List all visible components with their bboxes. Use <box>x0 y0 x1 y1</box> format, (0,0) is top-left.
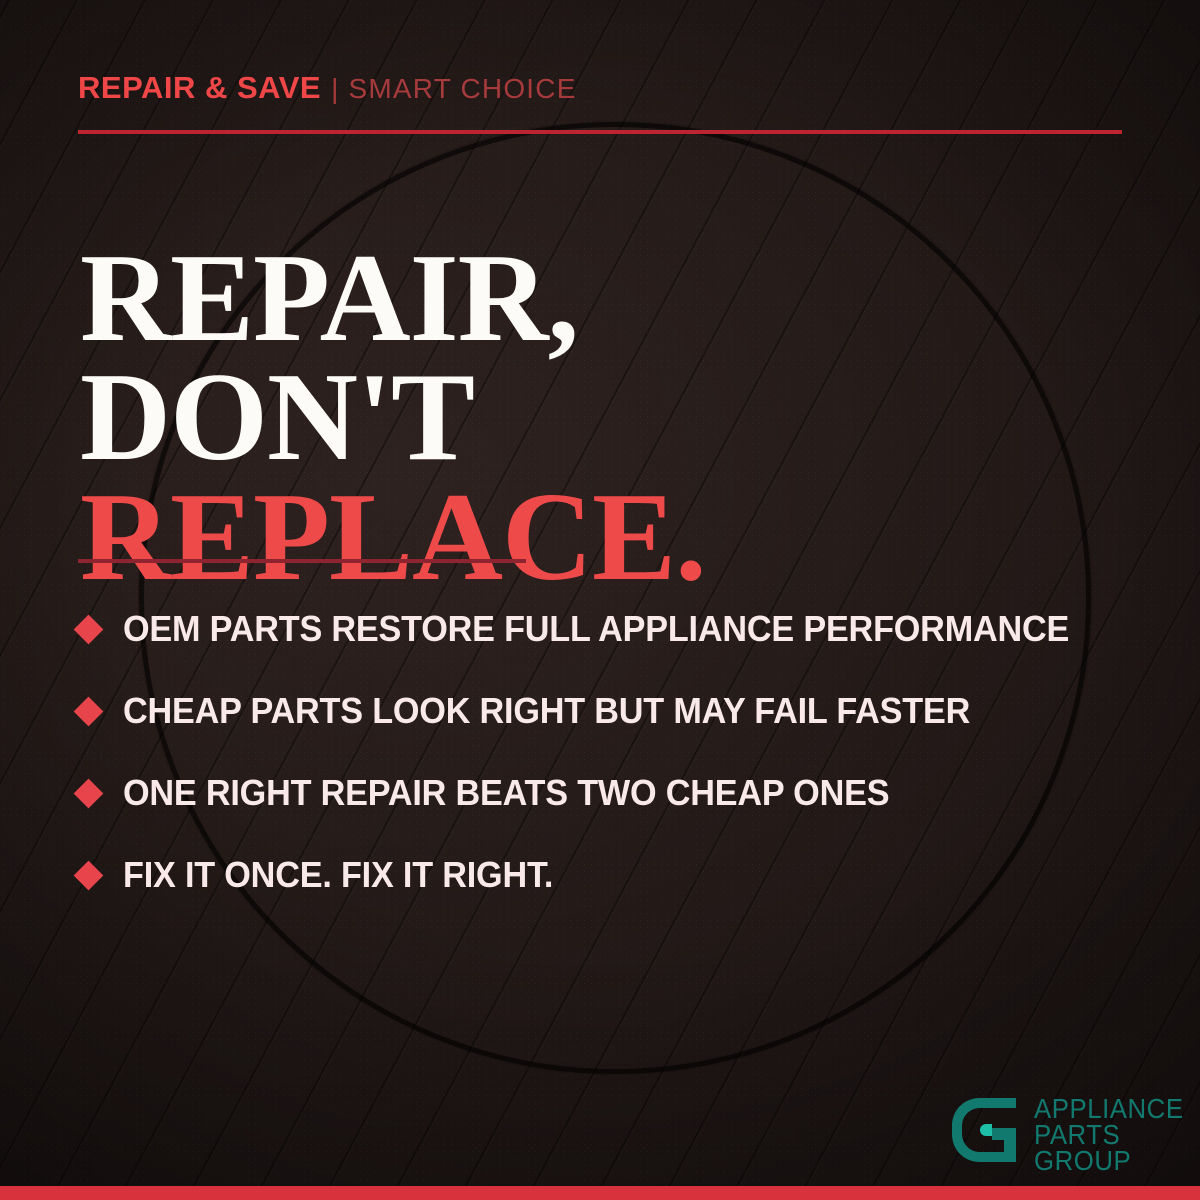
headline-line-1: REPAIR, <box>80 239 706 358</box>
brand-logo-line-3: GROUP <box>1034 1148 1184 1174</box>
diamond-bullet-icon <box>74 860 104 890</box>
poster-canvas: REPAIR & SAVE| SMART CHOICE REPAIR, DON'… <box>0 0 1200 1200</box>
diamond-bullet-icon <box>74 614 104 644</box>
list-item-label: FIX IT ONCE. FIX IT RIGHT. <box>123 854 553 896</box>
benefits-list: OEM PARTS RESTORE FULL APPLIANCE PERFORM… <box>78 588 1148 916</box>
list-item-label: OEM PARTS RESTORE FULL APPLIANCE PERFORM… <box>123 608 1069 650</box>
bottom-accent-bar <box>0 1186 1200 1200</box>
diamond-bullet-icon <box>74 778 104 808</box>
kicker-main-text: REPAIR & SAVE <box>78 70 321 105</box>
list-item: CHEAP PARTS LOOK RIGHT BUT MAY FAIL FAST… <box>78 670 1148 752</box>
header-divider-rule <box>78 130 1122 134</box>
g-monogram-icon <box>948 1094 1020 1166</box>
list-item: FIX IT ONCE. FIX IT RIGHT. <box>78 834 1148 916</box>
headline-line-3: REPLACE. <box>80 478 706 597</box>
headline: REPAIR, DON'T REPLACE. <box>80 239 706 596</box>
list-item: OEM PARTS RESTORE FULL APPLIANCE PERFORM… <box>78 588 1148 670</box>
list-item-label: CHEAP PARTS LOOK RIGHT BUT MAY FAIL FAST… <box>123 690 970 732</box>
diamond-bullet-icon <box>74 696 104 726</box>
kicker-sub-text: | SMART CHOICE <box>331 73 577 104</box>
headline-divider-rule <box>78 559 526 563</box>
kicker: REPAIR & SAVE| SMART CHOICE <box>78 72 577 103</box>
list-item: ONE RIGHT REPAIR BEATS TWO CHEAP ONES <box>78 752 1148 834</box>
brand-logo-wordmark: APPLIANCE PARTS GROUP <box>1034 1094 1184 1174</box>
poster-content: REPAIR & SAVE| SMART CHOICE REPAIR, DON'… <box>0 0 1200 1200</box>
list-item-label: ONE RIGHT REPAIR BEATS TWO CHEAP ONES <box>123 772 889 814</box>
brand-logo: APPLIANCE PARTS GROUP <box>948 1094 1197 1174</box>
headline-line-2: DON'T <box>80 358 706 477</box>
